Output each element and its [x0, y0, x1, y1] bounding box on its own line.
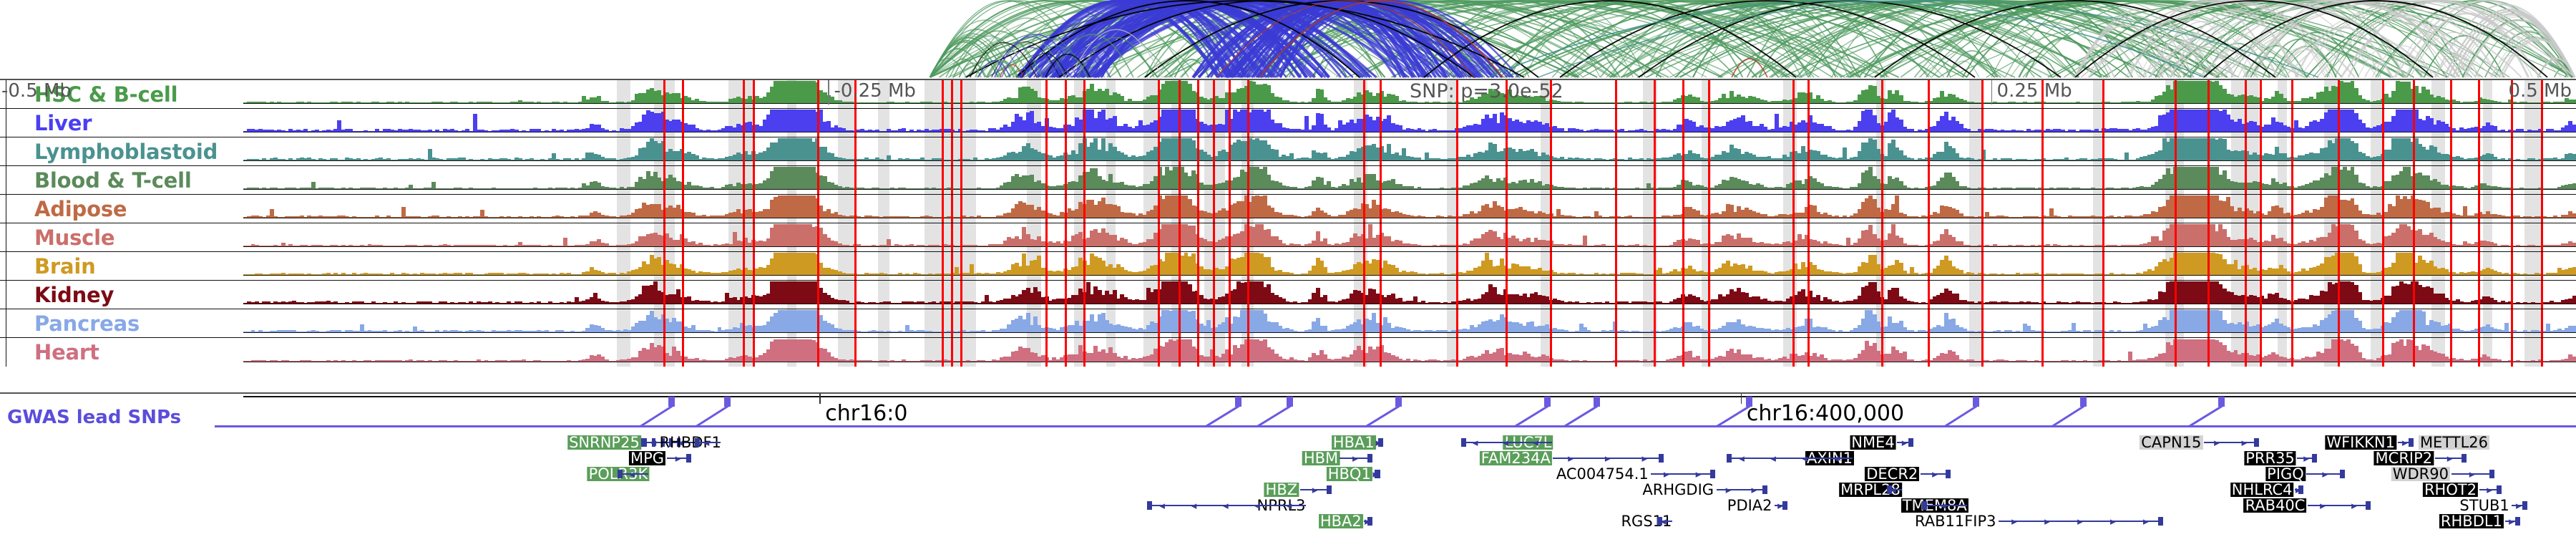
snp-tick — [1456, 109, 1458, 137]
snp-tick — [2041, 223, 2044, 251]
snp-tick — [1158, 80, 1160, 108]
snp-tick — [1506, 252, 1508, 280]
snp-tick — [1708, 109, 1710, 137]
highlight-band — [1969, 109, 1981, 137]
track-label-liver: Liver — [34, 111, 92, 135]
snp-tick — [1615, 137, 1617, 165]
highlight-band — [924, 281, 976, 309]
snp-tick — [1197, 109, 1199, 137]
track-baseline — [243, 132, 2576, 133]
snp-tick — [1654, 223, 1656, 251]
snp-tick — [2175, 166, 2177, 194]
snp-tick — [951, 109, 953, 137]
snp-tick — [2041, 80, 2044, 108]
highlight-band — [1143, 80, 1158, 108]
snp-tick — [817, 223, 819, 251]
track-row-liver[interactable]: Liver — [0, 109, 2576, 137]
snp-tick — [2175, 195, 2177, 223]
snp-tick — [960, 252, 962, 280]
highlight-band — [1969, 166, 1981, 194]
track-row-blood-t-cell[interactable]: Blood & T-cell — [0, 166, 2576, 195]
highlight-band — [2524, 137, 2541, 165]
highlight-band — [2483, 223, 2492, 251]
snp-tick — [1197, 137, 1199, 165]
snp-tick — [1654, 109, 1656, 137]
track-row-kidney[interactable]: Kidney — [0, 281, 2576, 309]
snp-tick — [1928, 166, 1930, 194]
highlight-band — [1969, 80, 1981, 108]
chromatin-loop-arc-panel — [0, 0, 2576, 79]
snp-tick — [2207, 80, 2210, 108]
snp-tick — [2260, 223, 2262, 251]
highlight-band — [1204, 80, 1225, 108]
snp-tick — [1682, 137, 1684, 165]
snp-tick — [1928, 137, 1930, 165]
snp-tick — [1807, 195, 1810, 223]
snp-tick — [2511, 137, 2513, 165]
snp-tick — [2338, 195, 2340, 223]
snp-tick — [942, 166, 944, 194]
snp-tick — [2207, 252, 2210, 280]
snp-tick — [2245, 252, 2247, 280]
snp-tick — [1197, 252, 1199, 280]
snp-tick — [2413, 223, 2415, 251]
snp-tick — [1065, 166, 1067, 194]
highlight-band — [1541, 223, 1550, 251]
highlight-band — [2524, 281, 2541, 309]
snp-tick — [817, 109, 819, 137]
track-plot-area — [243, 80, 2576, 108]
snp-tick — [663, 195, 665, 223]
snp-tick — [2102, 137, 2104, 165]
track-plot-area — [243, 109, 2576, 137]
snp-tick — [1179, 223, 1181, 251]
highlight-band — [2483, 80, 2492, 108]
snp-tick — [1456, 223, 1458, 251]
snp-tick — [2478, 195, 2480, 223]
snp-tick — [1550, 252, 1552, 280]
snp-tick — [2511, 166, 2513, 194]
snp-tick — [2291, 80, 2293, 108]
snp-tick — [1807, 252, 1810, 280]
snp-tick — [1247, 252, 1249, 280]
snp-tick — [1179, 137, 1181, 165]
snp-tick — [942, 252, 944, 280]
highlight-band — [1969, 223, 1981, 251]
track-label-kidney: Kidney — [34, 283, 114, 307]
snp-tick — [1083, 223, 1085, 251]
snp-tick — [1380, 137, 1382, 165]
snp-tick — [1229, 109, 1231, 137]
snp-tick — [743, 252, 745, 280]
snp-tick — [1881, 166, 1883, 194]
snp-tick — [1881, 109, 1883, 137]
snp-tick — [1197, 195, 1199, 223]
snp-tick — [1506, 223, 1508, 251]
snp-tick — [663, 252, 665, 280]
highlight-band — [2371, 252, 2382, 280]
signal-track-table: HSC & B-cellLiverLymphoblastoidBlood & T… — [0, 79, 2576, 394]
snp-tick — [743, 223, 745, 251]
snp-tick — [1229, 80, 1231, 108]
snp-tick — [1197, 80, 1199, 108]
track-row-left-cell — [0, 80, 6, 108]
highlight-band — [1204, 223, 1225, 251]
snp-tick — [2175, 252, 2177, 280]
snp-tick — [2450, 252, 2452, 280]
snp-tick — [1065, 137, 1067, 165]
track-label-muscle: Muscle — [34, 226, 114, 250]
highlight-band — [617, 252, 631, 280]
snp-tick — [1229, 195, 1231, 223]
snp-tick — [2260, 252, 2262, 280]
highlight-band — [2524, 252, 2541, 280]
snp-tick — [2413, 195, 2415, 223]
snp-tick — [2382, 223, 2384, 251]
track-row-hsc-b-cell[interactable]: HSC & B-cell — [0, 80, 2576, 109]
snp-tick — [942, 137, 944, 165]
snp-tick — [1981, 223, 1984, 251]
snp-tick — [960, 166, 962, 194]
snp-tick — [1045, 80, 1048, 108]
snp-tick — [2102, 109, 2104, 137]
snp-tick — [1981, 195, 1984, 223]
highlight-band — [2483, 281, 2492, 309]
snp-tick — [1792, 137, 1795, 165]
highlight-band — [2524, 166, 2541, 194]
snp-tick — [743, 166, 745, 194]
snp-tick — [2175, 223, 2177, 251]
snp-tick — [1807, 80, 1810, 108]
highlight-band — [2371, 223, 2382, 251]
highlight-band — [1969, 281, 1981, 309]
snp-tick — [2413, 80, 2415, 108]
track-label-brain: Brain — [34, 254, 96, 279]
snp-tick — [2541, 109, 2543, 137]
snp-tick — [1229, 223, 1231, 251]
snp-tick — [1247, 137, 1249, 165]
snp-tick — [942, 223, 944, 251]
snp-tick — [753, 195, 755, 223]
snp-tick — [2338, 109, 2340, 137]
highlight-band — [924, 252, 976, 280]
highlight-band — [878, 166, 889, 194]
highlight-band — [924, 166, 976, 194]
snp-tick — [2338, 137, 2340, 165]
snp-tick — [1083, 166, 1085, 194]
snp-tick — [1456, 166, 1458, 194]
snp-tick — [1213, 109, 1215, 137]
track-baseline — [243, 189, 2576, 190]
highlight-band — [617, 223, 631, 251]
snp-tick — [1981, 137, 1984, 165]
track-row-adipose[interactable]: Adipose — [0, 195, 2576, 223]
highlight-band — [878, 195, 889, 223]
snp-tick — [1550, 223, 1552, 251]
snp-tick — [2245, 109, 2247, 137]
track-row-left-cell — [0, 195, 6, 223]
snp-tick — [1197, 166, 1199, 194]
snp-tick — [1881, 223, 1883, 251]
track-baseline — [243, 218, 2576, 219]
highlight-band — [2524, 195, 2541, 223]
track-baseline — [243, 275, 2576, 276]
snp-tick — [1881, 80, 1883, 108]
highlight-band — [878, 252, 889, 280]
snp-tick — [1213, 252, 1215, 280]
track-row-left-cell — [0, 223, 6, 251]
snp-tick — [1792, 166, 1795, 194]
snp-tick — [1229, 252, 1231, 280]
snp-tick — [951, 195, 953, 223]
snp-tick — [1615, 166, 1617, 194]
snp-tick — [1179, 166, 1181, 194]
highlight-band — [2483, 252, 2492, 280]
highlight-band — [878, 80, 889, 108]
snp-tick — [1158, 166, 1160, 194]
snp-tick — [2260, 137, 2262, 165]
snp-tick — [1682, 223, 1684, 251]
snp-tick — [960, 80, 962, 108]
highlight-band — [2371, 281, 2382, 309]
snp-tick — [1981, 109, 1984, 137]
snp-tick — [1179, 252, 1181, 280]
snp-tick — [2245, 80, 2247, 108]
snp-tick — [1158, 109, 1160, 137]
snp-tick — [1229, 166, 1231, 194]
snp-tick — [2260, 80, 2262, 108]
snp-tick — [1380, 166, 1382, 194]
snp-tick — [817, 252, 819, 280]
snp-tick — [1363, 137, 1365, 165]
track-label-blood-t-cell: Blood & T-cell — [34, 168, 192, 193]
track-baseline — [243, 160, 2576, 162]
highlight-band — [1541, 137, 1550, 165]
snp-tick — [2382, 109, 2384, 137]
snp-tick — [1654, 252, 1656, 280]
snp-tick — [2175, 80, 2177, 108]
snp-tick — [1213, 195, 1215, 223]
snp-tick — [2207, 166, 2210, 194]
snp-tick — [743, 80, 745, 108]
snp-tick — [1045, 223, 1048, 251]
snp-tick — [2291, 166, 2293, 194]
snp-tick — [817, 80, 819, 108]
track-row-muscle[interactable]: Muscle — [0, 223, 2576, 252]
snp-tick — [960, 195, 962, 223]
snp-tick — [817, 166, 819, 194]
snp-tick — [854, 166, 857, 194]
snp-tick — [942, 195, 944, 223]
snp-tick — [2478, 80, 2480, 108]
snp-tick — [753, 252, 755, 280]
snp-tick — [682, 223, 684, 251]
snp-tick — [1247, 195, 1249, 223]
snp-tick — [1615, 195, 1617, 223]
snp-tick — [1654, 80, 1656, 108]
snp-tick — [854, 80, 857, 108]
snp-tick — [1881, 195, 1883, 223]
snp-tick — [2041, 137, 2044, 165]
snp-tick — [960, 223, 962, 251]
snp-tick — [743, 109, 745, 137]
snp-tick — [1229, 137, 1231, 165]
snp-tick — [1380, 195, 1382, 223]
highlight-band — [878, 137, 889, 165]
snp-tick — [2338, 80, 2340, 108]
track-row-lymphoblastoid[interactable]: Lymphoblastoid — [0, 137, 2576, 166]
snp-tick — [1045, 166, 1048, 194]
snp-tick — [1506, 137, 1508, 165]
highlight-band — [1969, 137, 1981, 165]
snp-tick — [1456, 137, 1458, 165]
arc-svg — [0, 0, 2576, 79]
track-label-adipose: Adipose — [34, 197, 127, 221]
highlight-band — [878, 281, 889, 309]
snp-tick — [2450, 109, 2452, 137]
snp-tick — [1380, 252, 1382, 280]
snp-tick — [2245, 195, 2247, 223]
snp-tick — [2245, 166, 2247, 194]
snp-tick — [2338, 252, 2340, 280]
snp-tick — [2382, 166, 2384, 194]
snp-tick — [1179, 109, 1181, 137]
highlight-band — [2371, 137, 2382, 165]
snp-tick — [817, 137, 819, 165]
snp-tick — [1083, 137, 1085, 165]
track-plot-area — [243, 195, 2576, 223]
snp-tick — [1615, 223, 1617, 251]
snp-tick — [1708, 252, 1710, 280]
snp-tick — [1881, 252, 1883, 280]
snp-tick — [682, 195, 684, 223]
snp-tick — [854, 223, 857, 251]
snp-tick — [1363, 252, 1365, 280]
highlight-band — [878, 223, 889, 251]
snp-tick — [1197, 223, 1199, 251]
track-label-hsc-b-cell: HSC & B-cell — [34, 82, 177, 107]
snp-tick — [2041, 166, 2044, 194]
snp-tick — [1708, 166, 1710, 194]
track-row-left-cell — [0, 252, 6, 280]
snp-tick — [1928, 223, 1930, 251]
snp-tick — [1708, 223, 1710, 251]
highlight-band — [2371, 80, 2382, 108]
snp-tick — [1550, 166, 1552, 194]
snp-tick — [1682, 195, 1684, 223]
snp-tick — [2382, 252, 2384, 280]
highlight-band — [2483, 166, 2492, 194]
highlight-band — [1541, 195, 1550, 223]
snp-tick — [1708, 137, 1710, 165]
snp-tick — [2041, 252, 2044, 280]
snp-tick — [854, 195, 857, 223]
snp-tick — [1792, 252, 1795, 280]
snp-tick — [2413, 109, 2415, 137]
snp-tick — [2478, 223, 2480, 251]
highlight-band — [728, 281, 754, 309]
snp-tick — [1792, 80, 1795, 108]
snp-tick — [1807, 166, 1810, 194]
snp-tick — [2478, 137, 2480, 165]
snp-tick — [2382, 195, 2384, 223]
track-row-left-cell — [0, 281, 6, 309]
snp-tick — [1682, 80, 1684, 108]
highlight-band — [1783, 80, 1797, 108]
snp-tick — [2245, 137, 2247, 165]
snp-tick — [1213, 80, 1215, 108]
track-row-brain[interactable]: Brain — [0, 252, 2576, 281]
snp-tick — [1654, 166, 1656, 194]
snp-tick — [1981, 252, 1984, 280]
snp-tick — [817, 195, 819, 223]
highlight-band — [924, 80, 976, 108]
highlight-band — [1204, 281, 1225, 309]
snp-tick — [753, 137, 755, 165]
highlight-band — [617, 109, 631, 137]
snp-tick — [743, 137, 745, 165]
snp-tick — [1807, 109, 1810, 137]
snp-tick — [1083, 109, 1085, 137]
snp-tick — [1380, 80, 1382, 108]
snp-tick — [2478, 166, 2480, 194]
snp-tick — [2041, 109, 2044, 137]
snp-tick — [2175, 137, 2177, 165]
highlight-band — [617, 281, 631, 309]
snp-tick — [663, 166, 665, 194]
snp-tick — [2478, 109, 2480, 137]
snp-tick — [1654, 195, 1656, 223]
snp-tick — [2291, 223, 2293, 251]
snp-tick — [2450, 223, 2452, 251]
snp-tick — [1363, 223, 1365, 251]
highlight-band — [617, 80, 631, 108]
snp-tick — [1928, 80, 1930, 108]
snp-tick — [2291, 195, 2293, 223]
snp-tick — [2338, 166, 2340, 194]
snp-tick — [2102, 223, 2104, 251]
snp-tick — [2291, 137, 2293, 165]
highlight-band — [2524, 80, 2541, 108]
highlight-band — [1541, 166, 1550, 194]
snp-tick — [1045, 109, 1048, 137]
snp-tick — [1065, 223, 1067, 251]
snp-tick — [2260, 195, 2262, 223]
snp-tick — [2291, 109, 2293, 137]
snp-tick — [2245, 223, 2247, 251]
snp-tick — [2102, 252, 2104, 280]
snp-tick — [1179, 80, 1181, 108]
track-plot-area — [243, 223, 2576, 251]
snp-tick — [1045, 195, 1048, 223]
snp-tick — [2102, 166, 2104, 194]
snp-tick — [1380, 109, 1382, 137]
snp-tick — [1792, 195, 1795, 223]
snp-tick — [1065, 109, 1067, 137]
snp-tick — [854, 137, 857, 165]
highlight-band — [728, 252, 754, 280]
snp-tick — [2450, 166, 2452, 194]
snp-tick — [2175, 109, 2177, 137]
snp-tick — [1247, 166, 1249, 194]
snp-tick — [2511, 195, 2513, 223]
signal-bar — [2572, 267, 2576, 275]
snp-tick — [2291, 252, 2293, 280]
snp-tick — [2207, 137, 2210, 165]
highlight-band — [924, 223, 976, 251]
snp-tick — [1247, 223, 1249, 251]
snp-tick — [2041, 195, 2044, 223]
